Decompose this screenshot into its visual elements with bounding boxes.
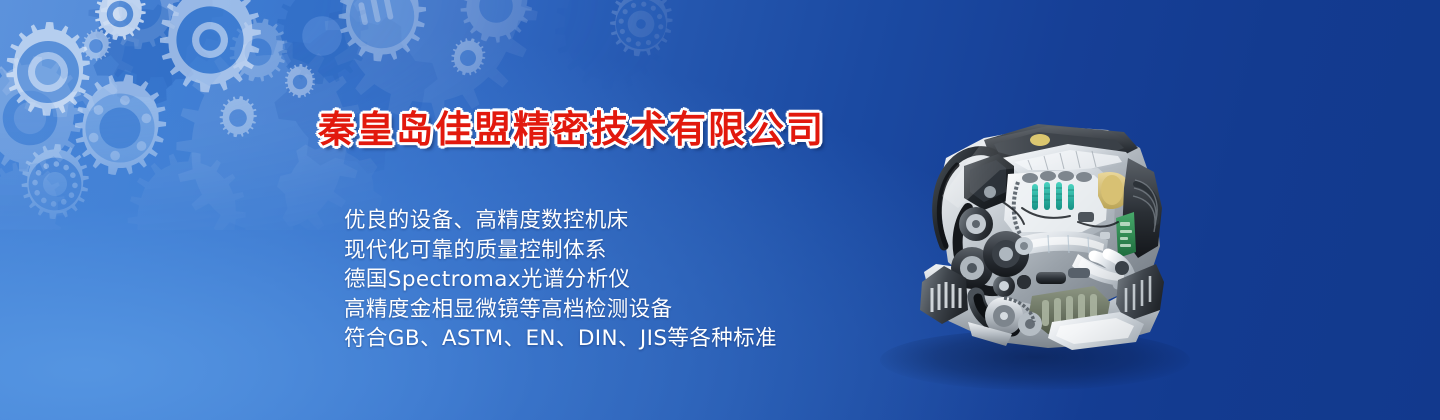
feature-list-item: 符合GB、ASTM、EN、DIN、JIS等各种标准 [344,324,777,354]
feature-list-item: 高精度金相显微镜等高档检测设备 [344,295,777,325]
feature-list-item: 德国Spectromax光谱分析仪 [344,265,777,295]
company-title: 秦皇岛佳盟精密技术有限公司 [318,99,825,153]
feature-list: 优良的设备、高精度数控机床 现代化可靠的质量控制体系 德国Spectromax光… [344,206,777,354]
feature-list-item: 优良的设备、高精度数控机床 [344,206,777,236]
engine-cutaway-image [872,96,1192,366]
company-banner: 秦皇岛佳盟精密技术有限公司 优良的设备、高精度数控机床 现代化可靠的质量控制体系… [0,0,1440,420]
feature-list-item: 现代化可靠的质量控制体系 [344,236,777,266]
